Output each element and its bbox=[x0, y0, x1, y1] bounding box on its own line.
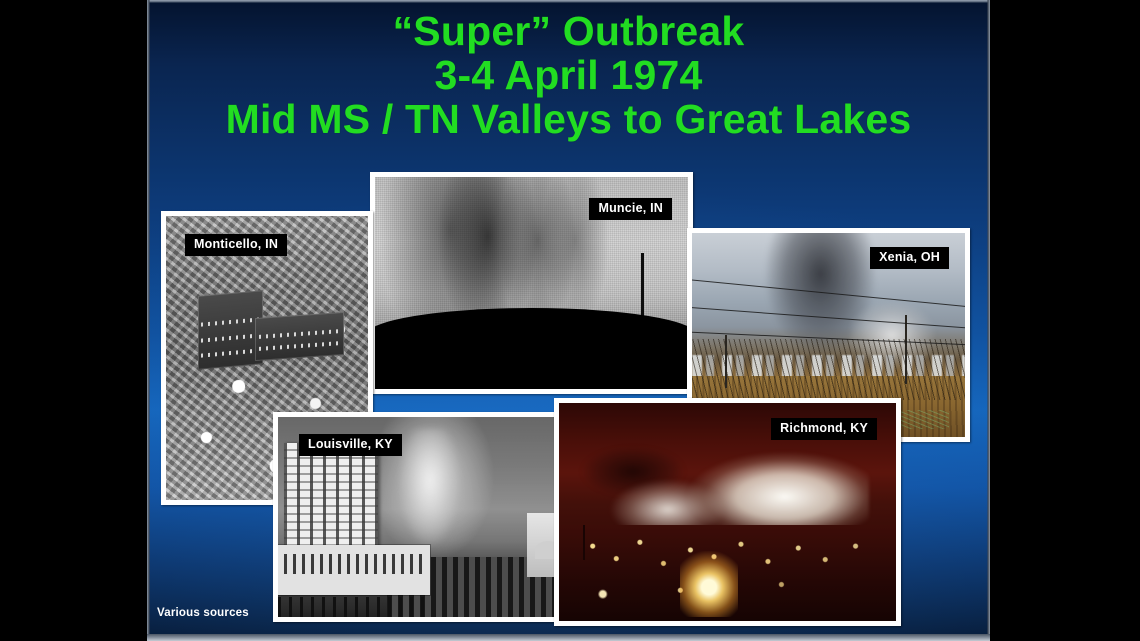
title-line-3: Mid MS / TN Valleys to Great Lakes bbox=[147, 98, 990, 142]
louisville-foreground-fence bbox=[278, 597, 430, 617]
title-line-1: “Super” Outbreak bbox=[147, 10, 990, 54]
photo-richmond-ky[interactable]: Richmond, KY bbox=[554, 398, 901, 626]
muncie-treeline bbox=[375, 308, 688, 389]
xenia-brush bbox=[692, 339, 965, 400]
richmond-bright-lamp bbox=[680, 551, 737, 616]
slide-top-edge bbox=[147, 0, 990, 3]
photo-caption-monticello: Monticello, IN bbox=[185, 234, 287, 256]
source-credit: Various sources bbox=[157, 607, 249, 619]
slide-title: “Super” Outbreak 3-4 April 1974 Mid MS /… bbox=[147, 10, 990, 142]
photo-richmond-ky-image: Richmond, KY bbox=[559, 403, 896, 621]
photo-louisville-ky[interactable]: Louisville, KY bbox=[273, 412, 569, 622]
louisville-low-building bbox=[278, 545, 430, 595]
presentation-slide: “Super” Outbreak 3-4 April 1974 Mid MS /… bbox=[147, 0, 990, 641]
screenshot-stage: “Super” Outbreak 3-4 April 1974 Mid MS /… bbox=[0, 0, 1140, 641]
louisville-highrise bbox=[284, 443, 378, 559]
photo-caption-louisville: Louisville, KY bbox=[299, 434, 402, 456]
slide-bottom-edge bbox=[147, 634, 990, 641]
xenia-utility-pole-right bbox=[905, 315, 907, 384]
photo-caption-richmond: Richmond, KY bbox=[771, 418, 877, 440]
photo-louisville-ky-image: Louisville, KY bbox=[278, 417, 564, 617]
photo-caption-muncie: Muncie, IN bbox=[589, 198, 672, 220]
xenia-utility-pole-left bbox=[725, 335, 727, 388]
title-line-2: 3-4 April 1974 bbox=[147, 54, 990, 98]
photo-muncie-in-image: Muncie, IN bbox=[375, 177, 688, 389]
photo-muncie-in[interactable]: Muncie, IN bbox=[370, 172, 693, 394]
monticello-annex-building bbox=[255, 312, 344, 361]
richmond-smokestack bbox=[583, 525, 585, 560]
monticello-school-building bbox=[198, 290, 263, 369]
photo-caption-xenia: Xenia, OH bbox=[870, 247, 949, 269]
